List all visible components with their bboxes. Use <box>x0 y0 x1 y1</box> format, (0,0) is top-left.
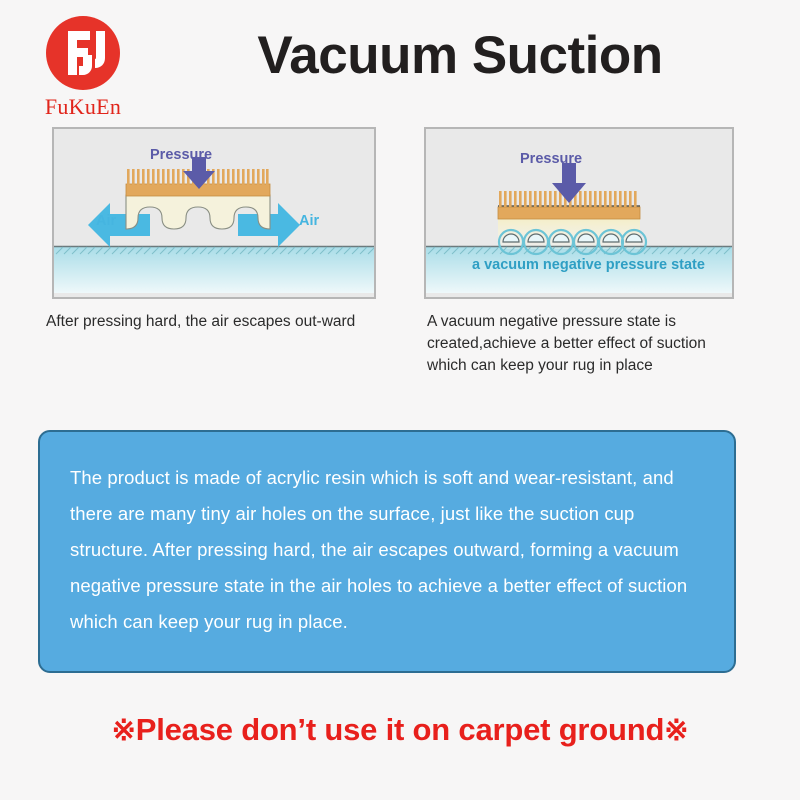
product-info-page: FuKuEn Vacuum Suction <box>0 0 800 800</box>
caption-right: A vacuum negative pressure state is crea… <box>427 311 747 377</box>
description-text: The product is made of acrylic resin whi… <box>70 460 704 640</box>
diagram-left-illustration <box>54 129 374 297</box>
diagram-vacuum-negative-pressure: Pressure a vacuum negative pressure stat… <box>424 127 734 299</box>
warning-text: Please don’t use it on carpet ground <box>136 712 665 747</box>
caption-left: After pressing hard, the air escapes out… <box>46 311 391 333</box>
carpet-warning: ※Please don’t use it on carpet ground※ <box>0 712 800 748</box>
warning-mark-right-icon: ※ <box>664 715 688 747</box>
page-title: Vacuum Suction <box>150 28 770 84</box>
warning-mark-left-icon: ※ <box>112 715 136 747</box>
description-panel: The product is made of acrylic resin whi… <box>38 430 736 673</box>
brand-logo: FuKuEn <box>18 14 148 120</box>
diagram-row: Pressure Air Air <box>0 127 800 302</box>
diagram-right-illustration <box>426 129 732 297</box>
diagram-pressure-air-escape: Pressure Air Air <box>52 127 376 299</box>
fukuen-circle-logo-icon <box>44 14 122 92</box>
brand-name: FuKuEn <box>18 94 148 120</box>
